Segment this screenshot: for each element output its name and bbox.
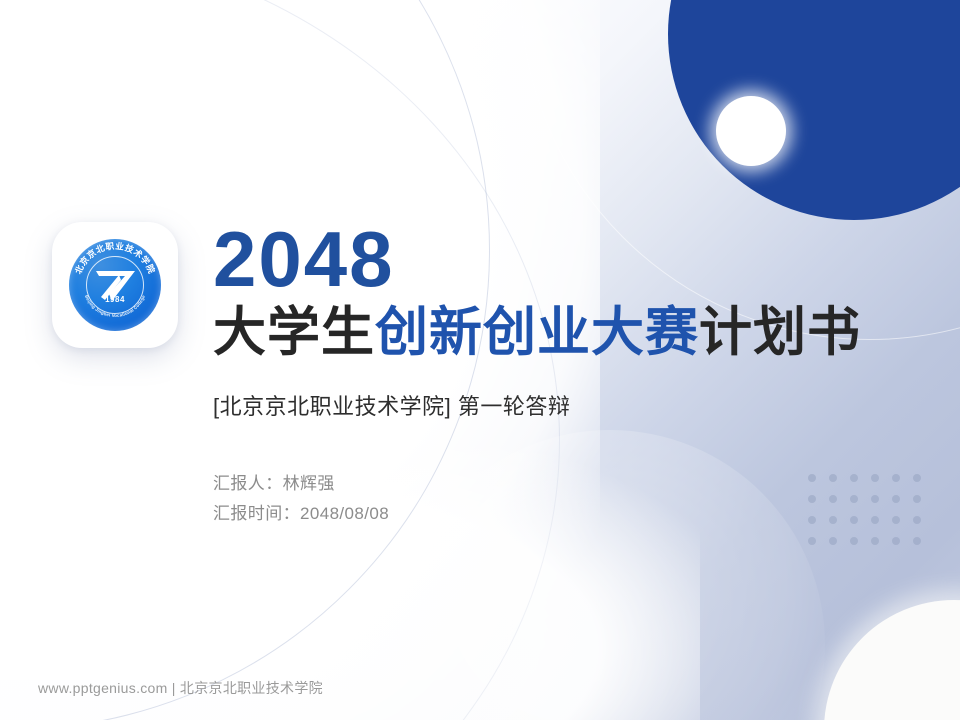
grid-dot <box>913 474 921 482</box>
decorative-blue-circle <box>668 0 960 220</box>
grid-dot <box>892 537 900 545</box>
logo-swoosh-icon <box>69 239 161 331</box>
slide-year: 2048 <box>213 222 913 297</box>
grid-dot <box>808 537 816 545</box>
date-line: 汇报时间：2048/08/08 <box>213 499 913 528</box>
slide-subtitle: [北京京北职业技术学院] 第一轮答辩 <box>213 389 913 421</box>
title-segment-highlight: 创新创业大赛 <box>375 303 699 362</box>
grid-dot <box>829 537 837 545</box>
slide-content: 2048 大学生创新创业大赛计划书 [北京京北职业技术学院] 第一轮答辩 汇报人… <box>213 222 913 528</box>
grid-dot <box>913 495 921 503</box>
title-segment-suffix: 计划书 <box>699 303 861 362</box>
slide-meta-block: 汇报人：林辉强 汇报时间：2048/08/08 <box>213 469 913 527</box>
slide-main-title: 大学生创新创业大赛计划书 <box>213 303 913 363</box>
grid-dot <box>913 537 921 545</box>
grid-dot <box>913 516 921 524</box>
presentation-slide: 北京京北职业技术学院 Beijing Jingbei Vocational Co… <box>0 0 960 720</box>
slide-footer: www.pptgenius.com | 北京京北职业技术学院 <box>38 678 323 698</box>
logo-year-mark: 1984 <box>69 295 161 304</box>
title-segment-prefix: 大学生 <box>213 303 375 362</box>
decorative-white-circle-small <box>716 96 786 166</box>
grid-dot <box>871 537 879 545</box>
presenter-line: 汇报人：林辉强 <box>213 469 913 498</box>
school-logo-emblem: 北京京北职业技术学院 Beijing Jingbei Vocational Co… <box>69 239 161 331</box>
school-logo-card: 北京京北职业技术学院 Beijing Jingbei Vocational Co… <box>52 222 178 348</box>
grid-dot <box>850 537 858 545</box>
decorative-white-circle-large <box>824 600 960 720</box>
